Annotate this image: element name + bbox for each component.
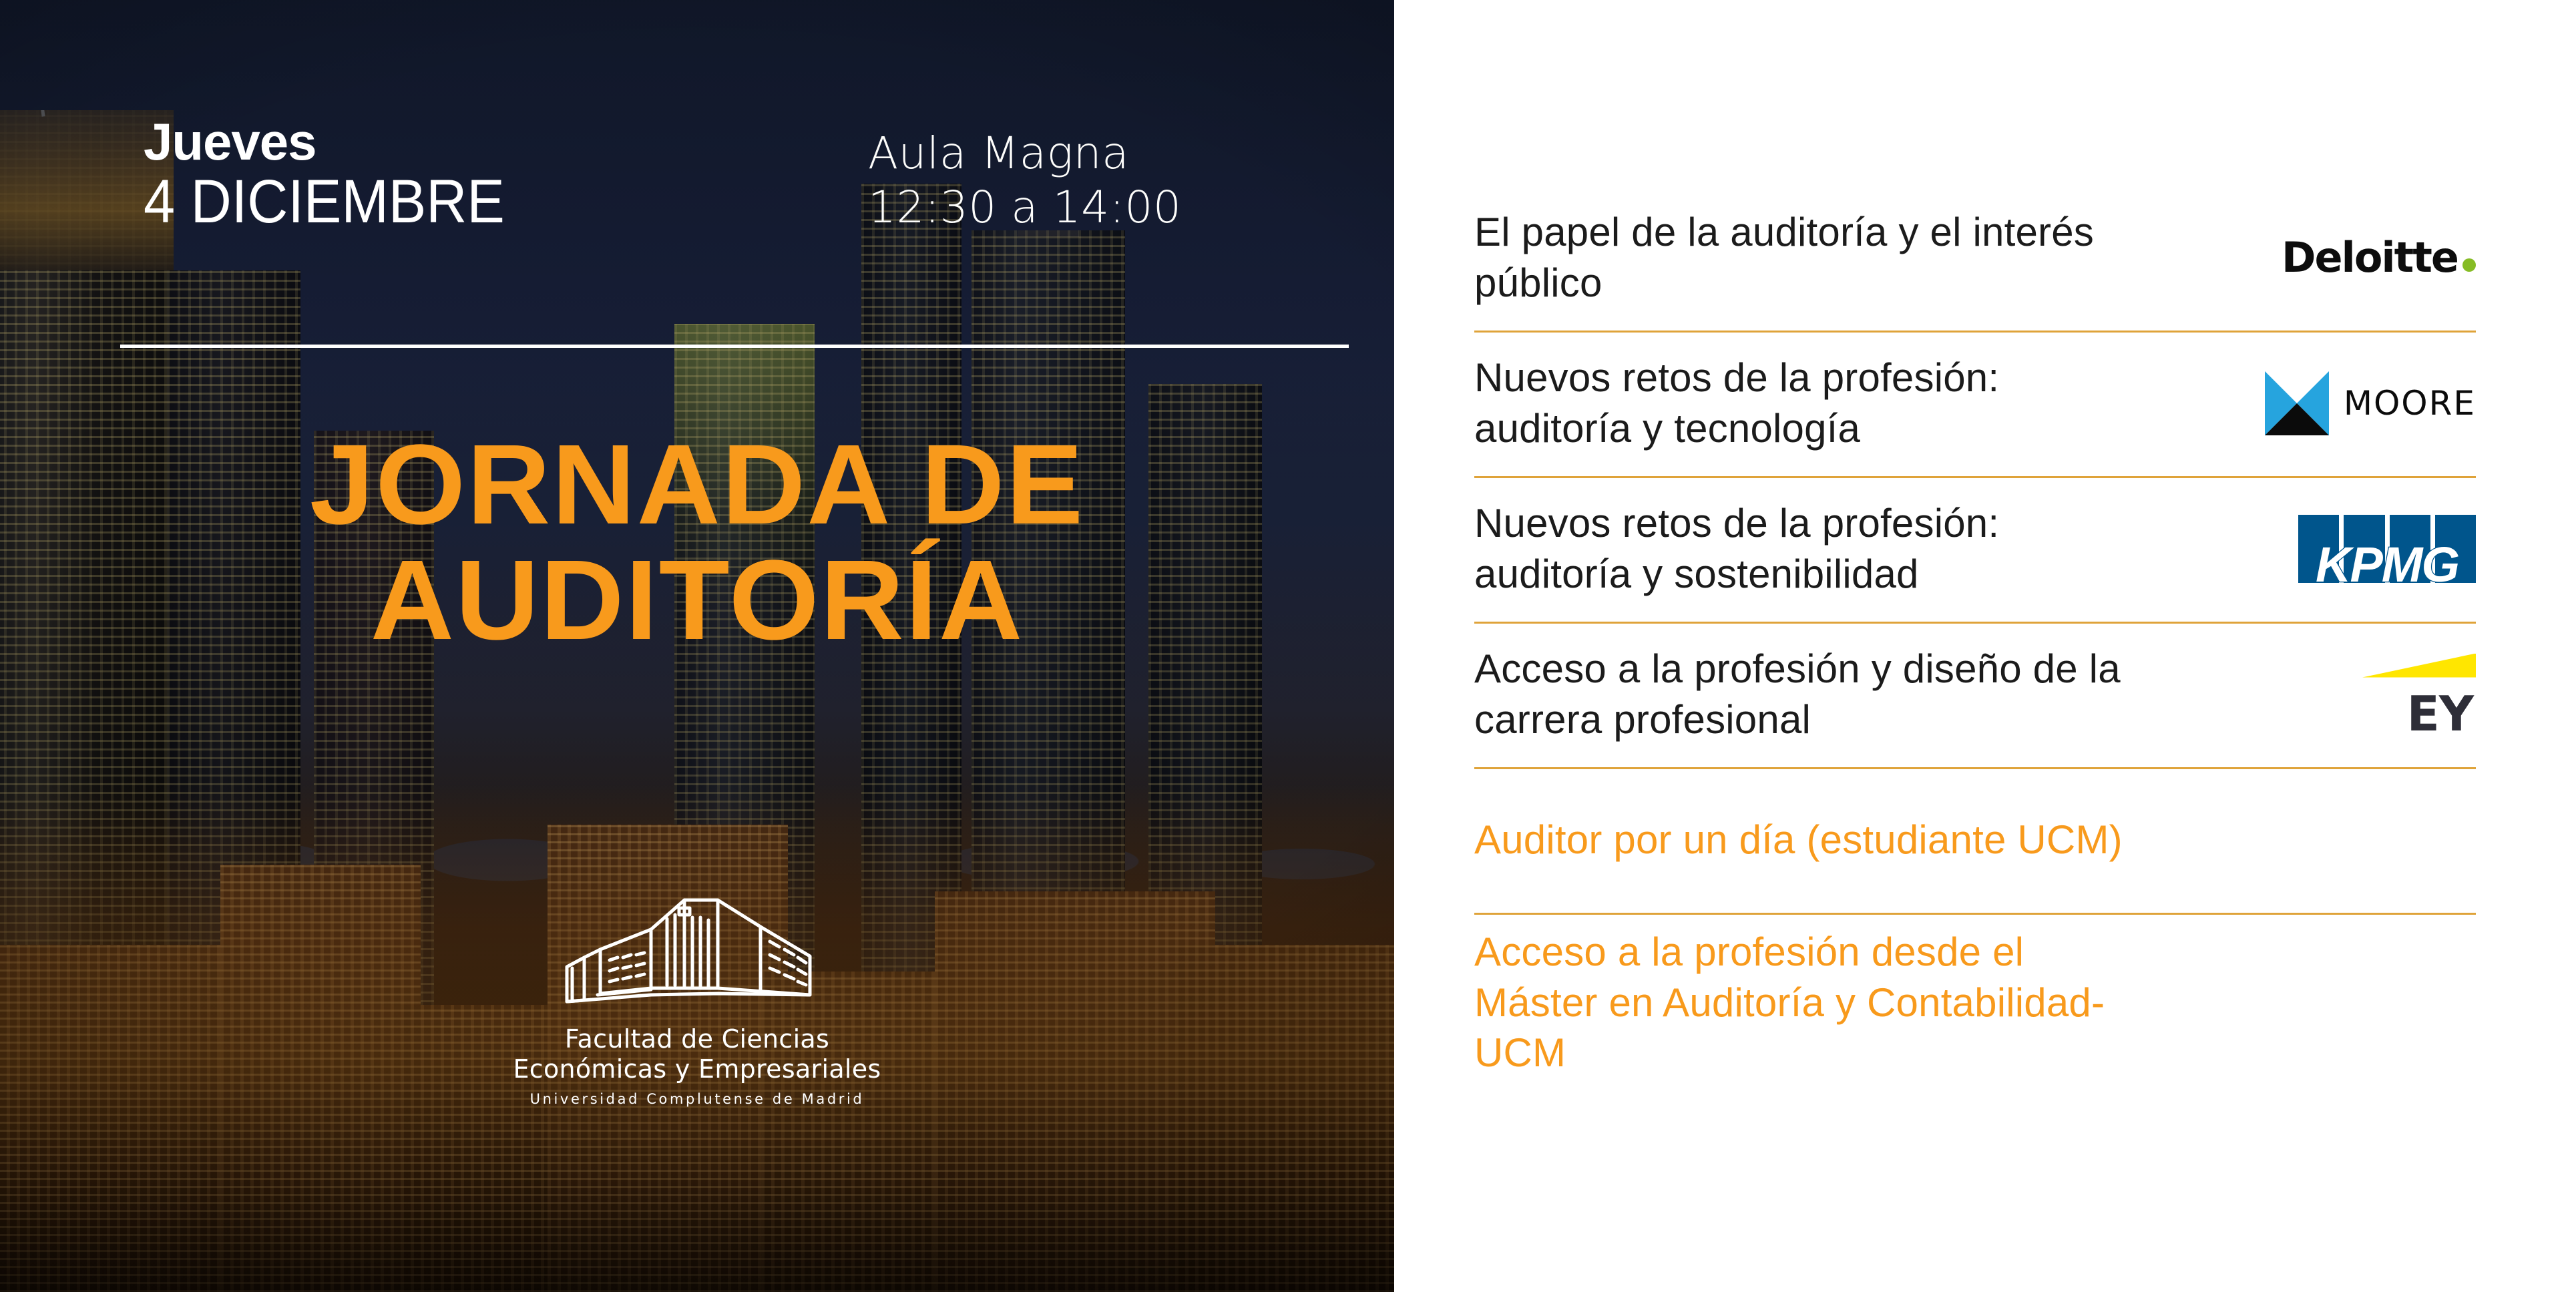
deloitte-logo: Deloitte xyxy=(2282,233,2476,282)
skyline-photo-panel: Jueves 4 DICIEMBRE Aula Magna 12:30 a 14… xyxy=(0,0,1394,1292)
deloitte-dot-icon xyxy=(2462,258,2476,272)
event-title: JORNADA DE AUDITORÍA xyxy=(0,427,1394,659)
faculty-logo-block: Facultad de Ciencias Económicas y Empres… xyxy=(0,888,1394,1107)
sponsor-logo-slot: KPMG xyxy=(2276,495,2476,602)
event-date-block: Jueves 4 DICIEMBRE xyxy=(144,117,536,234)
agenda-row[interactable]: El papel de la auditoría y el interés pú… xyxy=(1474,187,2476,333)
event-venue-block: Aula Magna 12:30 a 14:00 xyxy=(868,127,1181,234)
ey-wordmark: EY xyxy=(2407,690,2473,738)
moore-butterfly-icon xyxy=(2265,371,2329,435)
agenda-list: El papel de la auditoría y el interés pú… xyxy=(1474,187,2476,1093)
event-date: 4 DICIEMBRE xyxy=(144,171,505,234)
kpmg-logo: KPMG xyxy=(2298,515,2476,583)
faculty-building-sketch-icon xyxy=(520,888,874,1022)
agenda-row[interactable]: Acceso a la profesión desde el Máster en… xyxy=(1474,915,2476,1093)
sponsor-logo-slot xyxy=(2276,787,2476,893)
agenda-panel: El papel de la auditoría y el interés pú… xyxy=(1394,0,2576,1292)
sponsor-logo-slot: MOORE xyxy=(2265,350,2476,457)
agenda-row-label: Nuevos retos de la profesión: auditoría … xyxy=(1474,353,2142,453)
ey-logo: EY xyxy=(2356,651,2476,738)
event-time: 12:30 a 14:00 xyxy=(868,181,1181,235)
faculty-name-line-2: Económicas y Empresariales xyxy=(513,1054,881,1084)
agenda-row-label: Acceso a la profesión desde el Máster en… xyxy=(1474,927,2142,1078)
event-title-line-1: JORNADA DE xyxy=(0,427,1394,543)
event-weekday: Jueves xyxy=(144,117,536,167)
kpmg-wordmark: KPMG xyxy=(2298,540,2476,590)
agenda-row-label: Acceso a la profesión y diseño de la car… xyxy=(1474,644,2142,744)
event-poster: Jueves 4 DICIEMBRE Aula Magna 12:30 a 14… xyxy=(0,0,2576,1292)
agenda-row[interactable]: Auditor por un día (estudiante UCM) xyxy=(1474,769,2476,915)
sponsor-logo-slot: EY xyxy=(2276,641,2476,748)
agenda-row-label: Nuevos retos de la profesión: auditoría … xyxy=(1474,498,2142,599)
faculty-name-line-1: Facultad de Ciencias xyxy=(565,1024,829,1054)
event-title-line-2: AUDITORÍA xyxy=(0,543,1394,658)
sponsor-logo-slot: Deloitte xyxy=(2276,204,2476,311)
moore-wordmark: MOORE xyxy=(2344,384,2476,423)
ey-beam-icon xyxy=(2362,654,2476,678)
agenda-row-label: Auditor por un día (estudiante UCM) xyxy=(1474,815,2123,865)
deloitte-wordmark: Deloitte xyxy=(2282,233,2458,282)
sponsor-logo-slot xyxy=(2276,949,2476,1056)
agenda-row-label: El papel de la auditoría y el interés pú… xyxy=(1474,207,2142,308)
event-venue: Aula Magna xyxy=(868,127,1181,181)
agenda-row[interactable]: Acceso a la profesión y diseño de la car… xyxy=(1474,624,2476,769)
header-divider-rule xyxy=(120,345,1349,348)
agenda-row[interactable]: Nuevos retos de la profesión: auditoría … xyxy=(1474,478,2476,624)
moore-logo: MOORE xyxy=(2265,371,2476,435)
university-name: Universidad Complutense de Madrid xyxy=(530,1091,865,1107)
agenda-row[interactable]: Nuevos retos de la profesión: auditoría … xyxy=(1474,333,2476,478)
